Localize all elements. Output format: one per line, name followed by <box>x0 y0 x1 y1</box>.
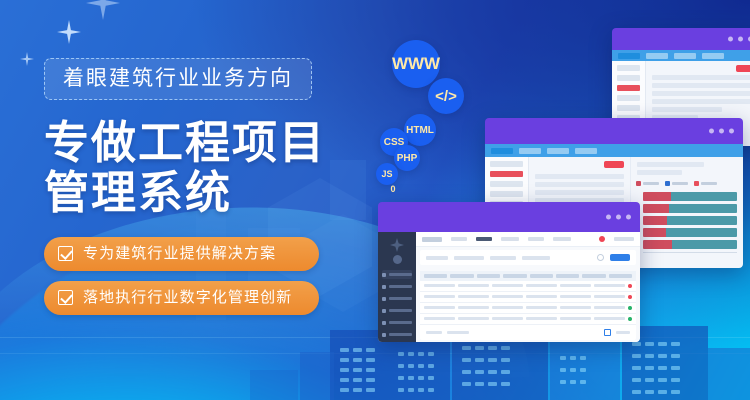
status-badge <box>628 317 632 321</box>
sidebar-item-active[interactable] <box>617 85 640 91</box>
tech-bubble-html: HTML <box>404 114 436 146</box>
page-title: 专做工程项目 管理系统 <box>44 118 374 219</box>
tab-item[interactable] <box>519 148 541 154</box>
toolbar-brand <box>422 237 442 242</box>
tagline: 着眼建筑行业业务方向 <box>44 58 312 100</box>
table-row[interactable] <box>420 303 636 314</box>
app-sidebar-dark[interactable] <box>378 232 416 342</box>
cta-label: 落地执行行业数字化管理创新 <box>83 290 292 305</box>
table-row <box>652 107 722 112</box>
page-number-button[interactable] <box>604 329 611 336</box>
table-row <box>535 182 624 187</box>
tab-active[interactable] <box>618 53 640 59</box>
app-header <box>485 144 743 157</box>
chart-bar <box>643 192 737 201</box>
panel-front[interactable] <box>378 202 640 342</box>
status-badge <box>628 295 632 299</box>
cta-label: 专为建筑行业提供解决方案 <box>83 246 276 261</box>
sidebar-item[interactable] <box>617 95 640 101</box>
legend-entry <box>665 181 688 186</box>
primary-action-button[interactable] <box>736 65 750 72</box>
toolbar-item[interactable] <box>501 237 519 241</box>
tech-bubble-www: WWW <box>392 40 440 88</box>
banner-copy: 着眼建筑行业业务方向 专做工程项目 管理系统 专为建筑行业提供解决方案 落地执行… <box>44 58 374 325</box>
search-button[interactable] <box>610 254 630 261</box>
table-row <box>652 75 750 80</box>
tab-active[interactable] <box>491 148 513 154</box>
sidebar-item[interactable] <box>617 105 640 111</box>
user-menu[interactable] <box>614 237 634 241</box>
page-size-select[interactable] <box>616 331 630 334</box>
filter-field[interactable] <box>426 256 448 260</box>
chart-bar <box>643 204 737 213</box>
window-dots <box>709 129 734 134</box>
checkbox-check-icon <box>58 290 73 305</box>
tab-item[interactable] <box>575 148 597 154</box>
refresh-icon[interactable] <box>597 254 604 261</box>
table-row <box>652 91 750 96</box>
table-row <box>535 190 624 195</box>
table-row[interactable] <box>420 281 636 292</box>
chart-title <box>637 162 704 167</box>
app-header <box>612 50 750 61</box>
headline-line-1: 专做工程项目 <box>44 118 374 168</box>
toolbar-item[interactable] <box>528 237 544 241</box>
filter-bar[interactable] <box>420 250 636 265</box>
cta-button-innovation[interactable]: 落地执行行业数字化管理创新 <box>44 281 319 315</box>
app-content <box>416 232 640 342</box>
sidebar-item[interactable] <box>382 294 412 303</box>
sidebar-item[interactable] <box>490 161 523 167</box>
sidebar-item[interactable] <box>490 181 523 187</box>
window-dots <box>728 37 750 42</box>
data-table <box>420 271 636 340</box>
table-row[interactable] <box>420 314 636 325</box>
table-row <box>652 83 750 88</box>
chart-subtitle <box>637 170 682 175</box>
sidebar-item[interactable] <box>382 330 412 339</box>
tab-item[interactable] <box>547 148 569 154</box>
tech-bubble-code-icon: </> <box>428 78 464 114</box>
status-badge <box>628 306 632 310</box>
cta-list: 专为建筑行业提供解决方案 落地执行行业数字化管理创新 <box>44 237 374 315</box>
chart-bar <box>643 216 737 225</box>
sidebar-item[interactable] <box>617 65 640 71</box>
avatar[interactable] <box>393 255 402 264</box>
panel-title-bar <box>378 202 640 232</box>
sidebar-item[interactable] <box>382 282 412 291</box>
table-row <box>652 99 750 104</box>
app-chart-panel <box>631 157 743 268</box>
table-header-row <box>420 271 636 281</box>
pagination-info <box>447 331 469 334</box>
tab-item[interactable] <box>674 53 696 59</box>
pagination-info <box>426 331 442 334</box>
headline-line-2: 管理系统 <box>44 168 374 218</box>
legend-entry <box>694 181 717 186</box>
sidebar-item-active[interactable] <box>382 270 412 279</box>
toolbar-item[interactable] <box>553 237 571 241</box>
sidebar-item[interactable] <box>617 75 640 81</box>
sidebar-item[interactable] <box>490 191 523 197</box>
tab-item[interactable] <box>646 53 668 59</box>
filter-field[interactable] <box>490 256 516 260</box>
legend-entry <box>636 181 659 186</box>
panel-title-bar <box>612 28 750 50</box>
promo-banner: 着眼建筑行业业务方向 专做工程项目 管理系统 专为建筑行业提供解决方案 落地执行… <box>0 0 750 400</box>
primary-action-button[interactable] <box>604 161 624 168</box>
cta-button-solution[interactable]: 专为建筑行业提供解决方案 <box>44 237 319 271</box>
chart-bar <box>643 240 737 249</box>
chart-bar <box>643 228 737 237</box>
status-badge <box>628 284 632 288</box>
window-dots <box>606 215 631 220</box>
chart-legend <box>631 178 743 189</box>
tab-item[interactable] <box>702 53 724 59</box>
notification-badge-icon[interactable] <box>599 236 605 242</box>
filter-field[interactable] <box>454 256 484 260</box>
sidebar-item[interactable] <box>382 306 412 315</box>
sidebar-item-active[interactable] <box>490 171 523 177</box>
app-body <box>378 232 640 342</box>
tech-bubble-php: PHP <box>394 145 420 171</box>
panel-title-bar <box>485 118 743 144</box>
table-row[interactable] <box>420 292 636 303</box>
app-toolbar[interactable] <box>416 232 640 247</box>
chart-axis <box>643 252 737 253</box>
table-pagination[interactable] <box>420 325 636 340</box>
tech-bubble-zero: 0 <box>386 182 400 196</box>
sidebar-item[interactable] <box>382 318 412 327</box>
app-logo-icon <box>390 238 404 252</box>
toolbar-item-active[interactable] <box>476 237 492 241</box>
toolbar-item[interactable] <box>451 237 467 241</box>
filter-field[interactable] <box>522 256 550 260</box>
table-row <box>535 174 624 179</box>
checkbox-check-icon <box>58 246 73 261</box>
